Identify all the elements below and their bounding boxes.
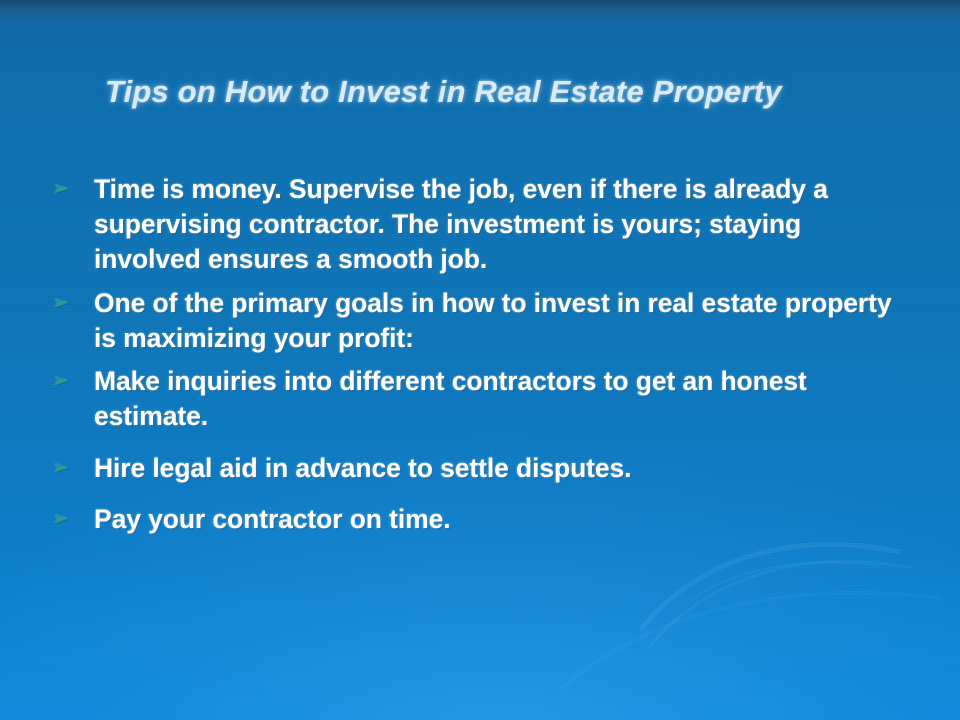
list-item: ➢ Hire legal aid in advance to settle di… xyxy=(52,451,902,486)
list-item-text: One of the primary goals in how to inves… xyxy=(94,286,902,356)
list-item: ➢ Make inquiries into different contract… xyxy=(52,364,902,434)
chevron-bullet-icon: ➢ xyxy=(52,502,94,528)
chevron-bullet-icon: ➢ xyxy=(52,364,94,390)
bullet-list: ➢ Time is money. Supervise the job, even… xyxy=(52,172,902,542)
list-item-text: Hire legal aid in advance to settle disp… xyxy=(94,451,902,486)
list-item: ➢ One of the primary goals in how to inv… xyxy=(52,286,902,356)
presentation-slide: Tips on How to Invest in Real Estate Pro… xyxy=(0,0,960,720)
chevron-bullet-icon: ➢ xyxy=(52,172,94,198)
list-item: ➢ Pay your contractor on time. xyxy=(52,502,902,537)
chevron-bullet-icon: ➢ xyxy=(52,451,94,477)
list-item-text: Time is money. Supervise the job, even i… xyxy=(94,172,902,278)
slide-title: Tips on How to Invest in Real Estate Pro… xyxy=(105,74,865,110)
chevron-bullet-icon: ➢ xyxy=(52,286,94,312)
list-item-text: Make inquiries into different contractor… xyxy=(94,364,902,434)
list-item-text: Pay your contractor on time. xyxy=(94,502,902,537)
list-item: ➢ Time is money. Supervise the job, even… xyxy=(52,172,902,278)
